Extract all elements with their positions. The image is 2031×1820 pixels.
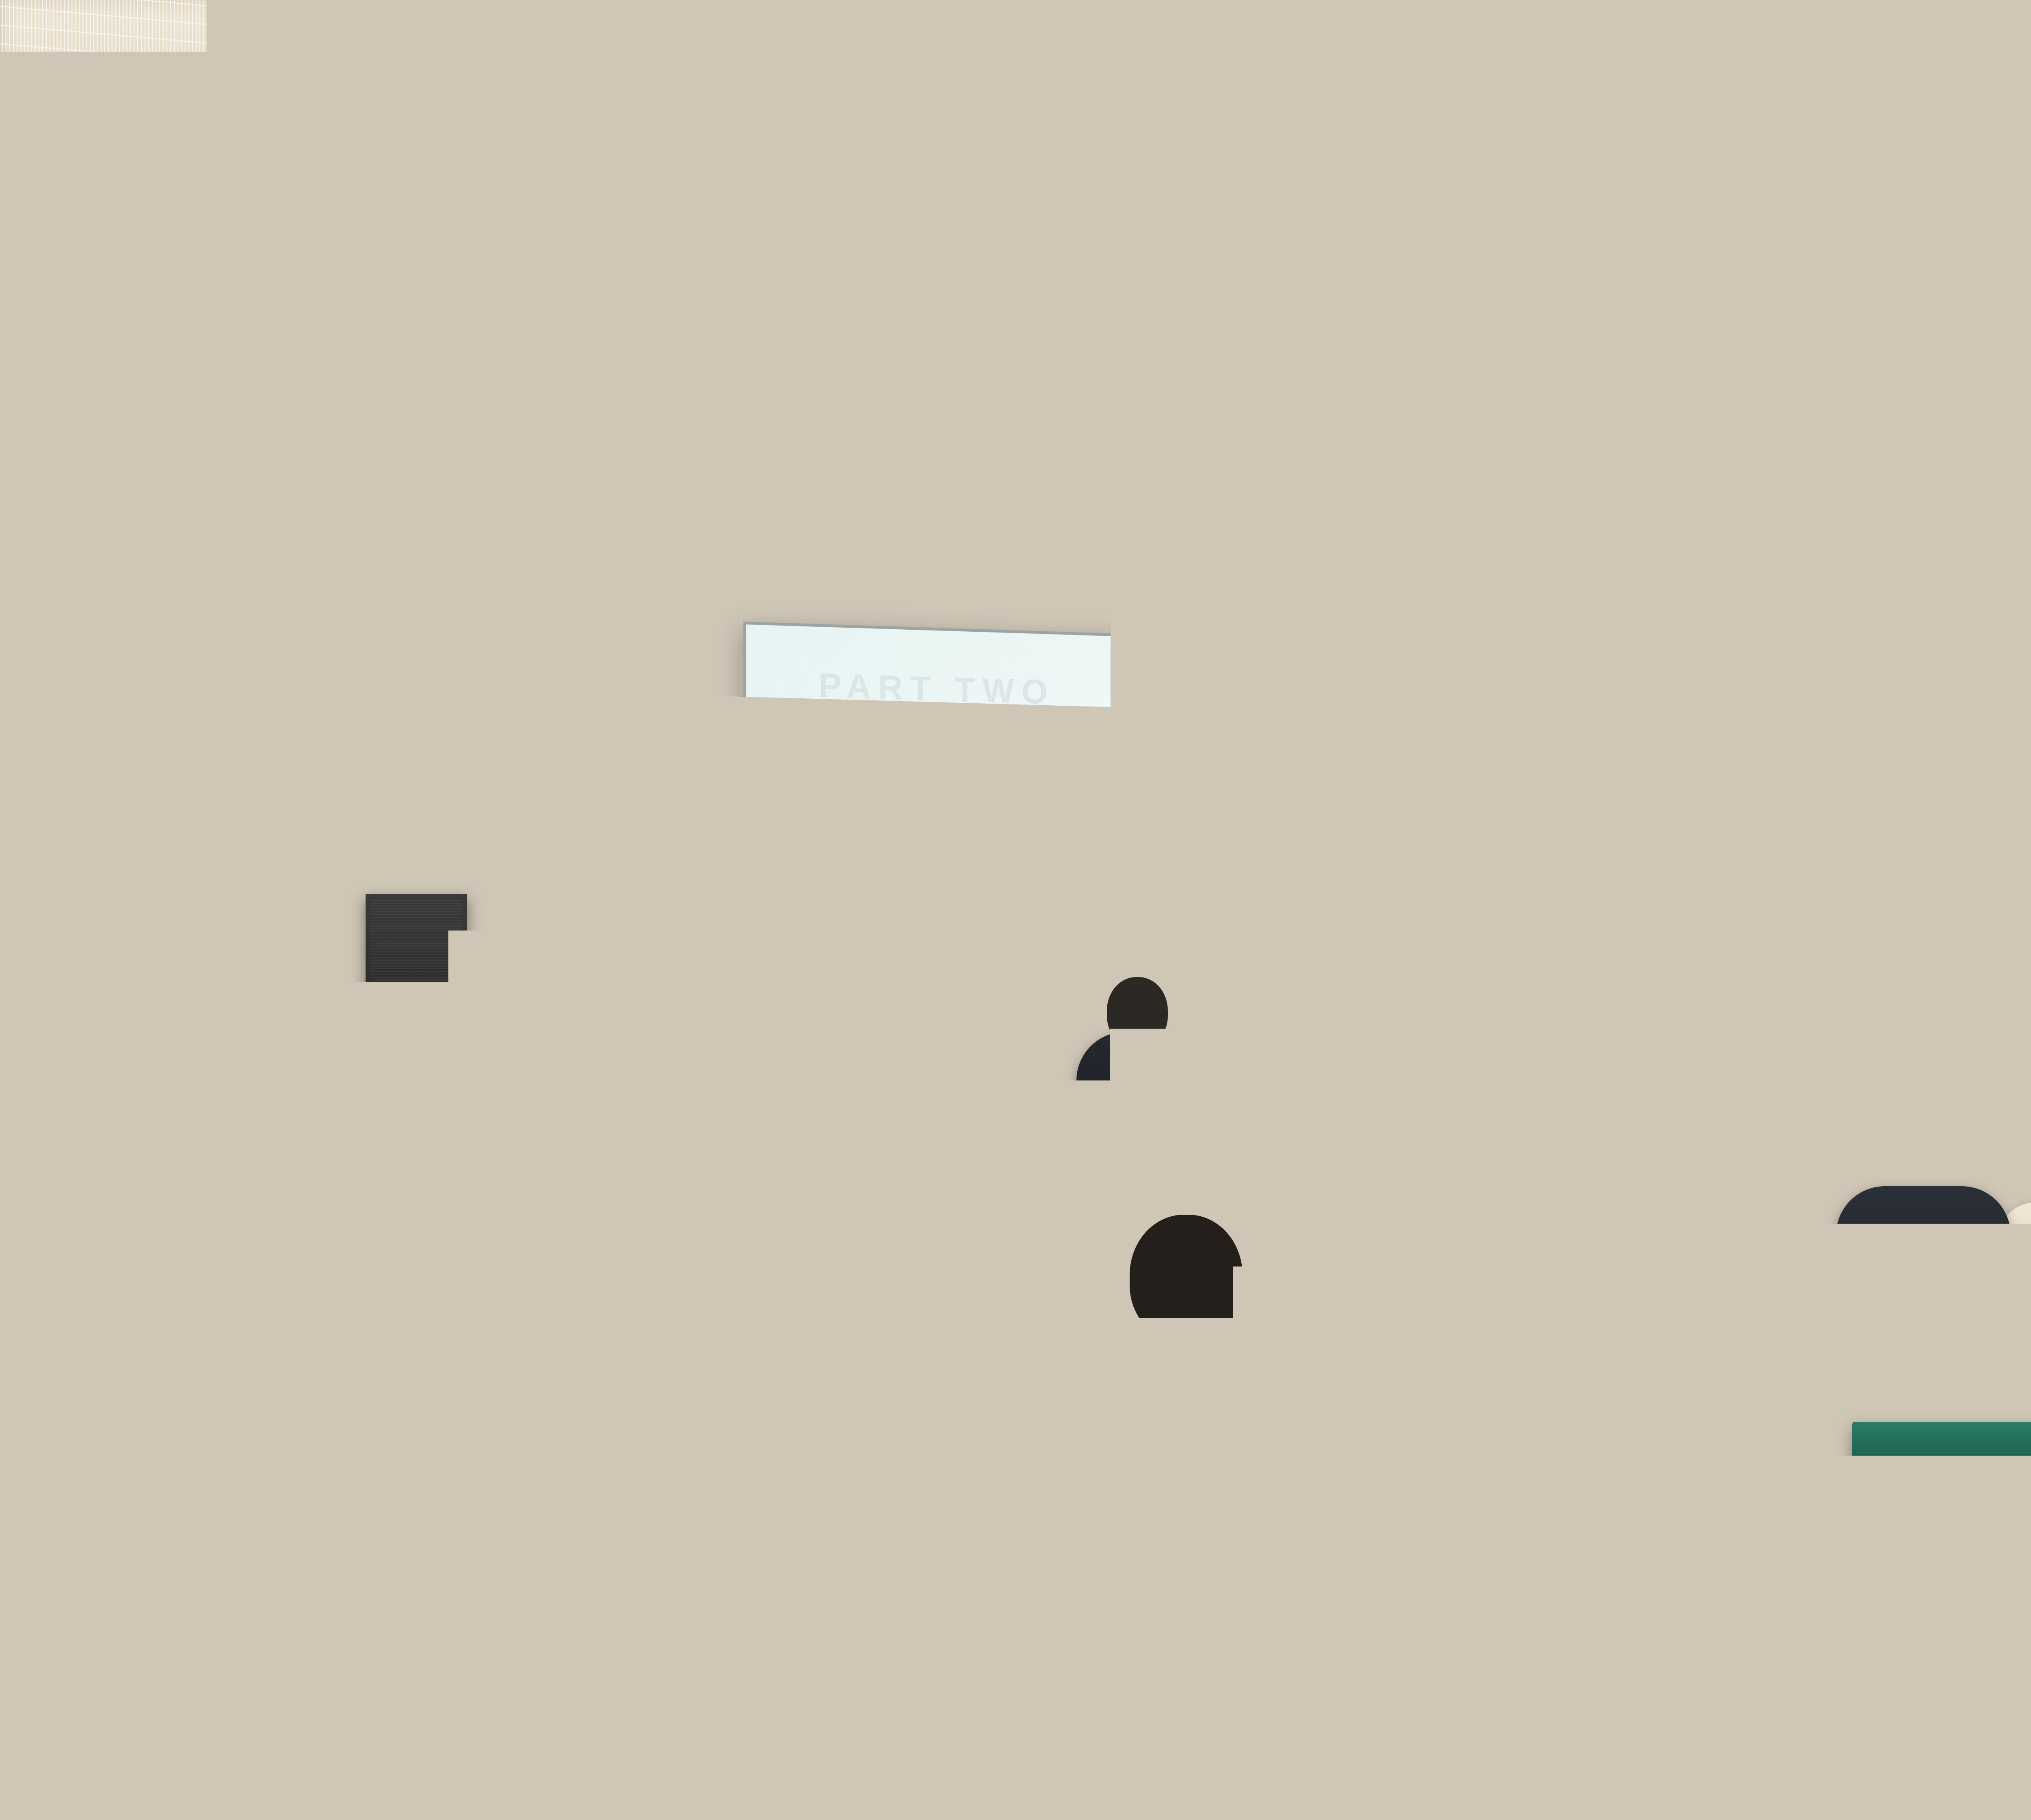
nameplate: 丝绸之路经济带 西北地区建筑产业工会联盟2025年劳动竞赛活动 (353, 1743, 565, 1820)
attendee (1901, 1349, 2031, 1682)
photo-speaker-figure (918, 975, 978, 1066)
cscec-logo-mark (1025, 1090, 1080, 1125)
ceiling-skylight-feature (804, 0, 1332, 152)
attendee-foreground (1470, 1365, 1804, 1820)
attendee-foreground (796, 1406, 1121, 1820)
attendee (496, 1280, 723, 1588)
attendee (1414, 1040, 1535, 1211)
conference-hall-photo: PART TWO 职业化培训 China Construction Third … (0, 0, 2031, 1820)
chair (284, 1341, 455, 1568)
attendee-foreground (0, 1357, 284, 1820)
tea-mug (37, 1194, 77, 1243)
slide-title-cn: 职业化培训 (785, 686, 1011, 753)
nameplate: 丝绸之路经济带 西北地区建筑产业工会联盟2025年劳动竞赛活动 麦麦提明·图尔逊 (1442, 1194, 1576, 1259)
water-bottle (1418, 1446, 1462, 1560)
